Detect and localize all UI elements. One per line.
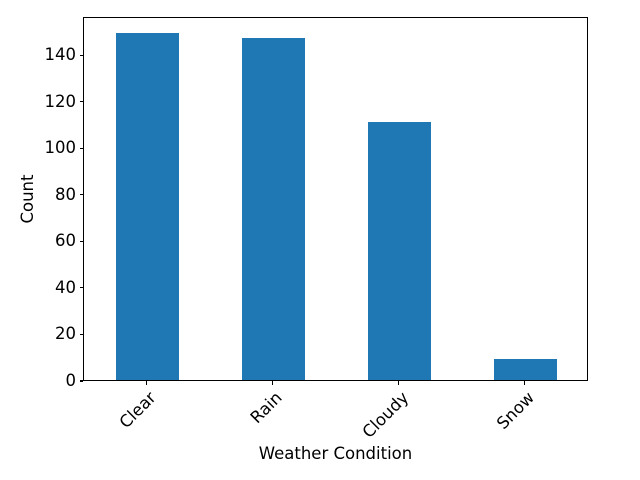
x-axis-label-text: Weather Condition: [259, 444, 412, 463]
bar-clear: [116, 33, 179, 380]
bar-snow: [494, 359, 557, 380]
y-tick-label: 100: [45, 137, 77, 159]
x-tick-mark: [524, 381, 525, 385]
y-tick-label: 140: [45, 44, 77, 66]
x-tick-mark: [272, 381, 273, 385]
x-tick-label: Snow: [493, 388, 539, 434]
y-axis-label: Count: [18, 17, 38, 381]
y-tick-label: 80: [55, 184, 76, 206]
y-tick-label: 60: [55, 230, 76, 252]
y-tick-mark: [80, 194, 84, 195]
y-axis-label-text: Count: [18, 175, 37, 224]
y-tick-mark: [80, 380, 84, 381]
bar-rain: [242, 38, 305, 380]
plot-area: [84, 18, 587, 380]
y-tick-label: 0: [66, 370, 77, 392]
y-tick-label: 40: [55, 277, 76, 299]
y-tick-label: 20: [55, 323, 76, 345]
y-tick-mark: [80, 241, 84, 242]
x-tick-mark: [146, 381, 147, 385]
x-tick-mark: [398, 381, 399, 385]
x-tick-label: Rain: [247, 388, 287, 428]
x-axis-label: Weather Condition: [0, 444, 640, 463]
y-tick-label: 120: [45, 91, 77, 113]
plot-axes: [83, 17, 588, 381]
y-tick-mark: [80, 148, 84, 149]
y-tick-mark: [80, 101, 84, 102]
bar-cloudy: [368, 122, 431, 380]
y-tick-mark: [80, 287, 84, 288]
y-tick-mark: [80, 55, 84, 56]
x-tick-label: Cloudy: [358, 388, 412, 442]
y-tick-mark: [80, 334, 84, 335]
x-tick-label: Clear: [116, 388, 161, 433]
figure-canvas: 020406080100120140 ClearRainCloudySnow W…: [0, 0, 640, 480]
